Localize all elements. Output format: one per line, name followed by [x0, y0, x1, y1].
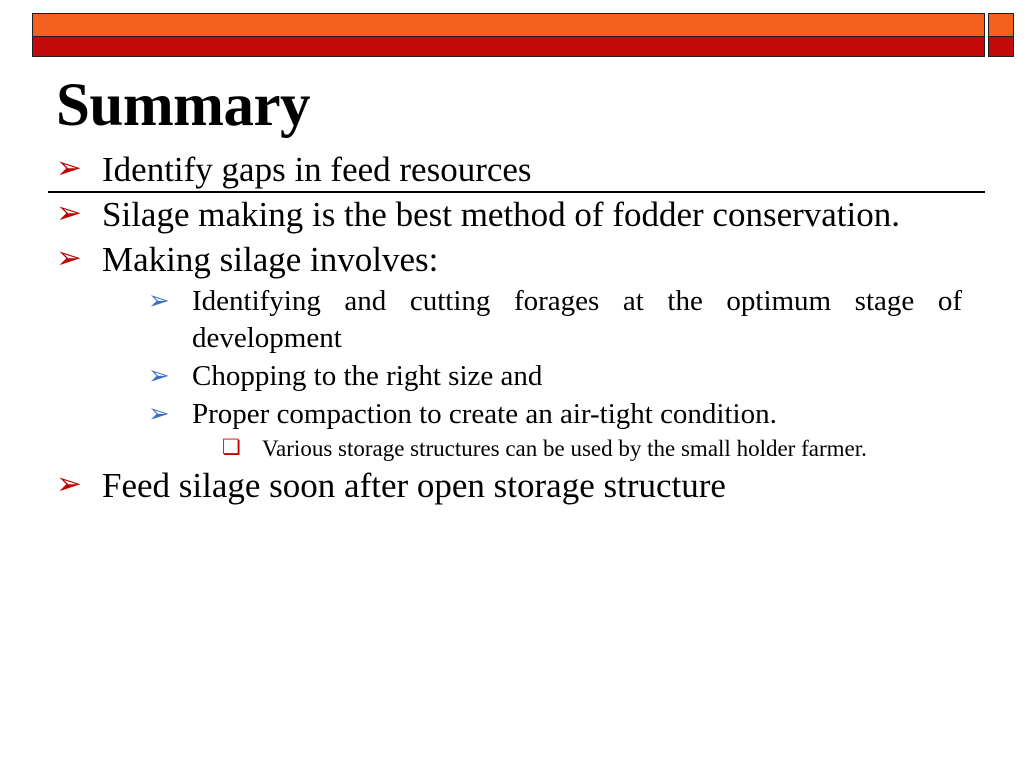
bullet-text: Identify gaps in feed resources — [102, 148, 984, 192]
arrow-bullet-icon: ➢ — [56, 153, 82, 184]
arrow-bullet-icon: ➢ — [56, 243, 82, 274]
bullet-item: ➢ Silage making is the best method of fo… — [0, 193, 1024, 237]
sub-bullet-item: ➢ Chopping to the right size and — [0, 358, 1024, 395]
bullet-item: ➢ Making silage involves: — [0, 238, 1024, 282]
header-bar-main — [32, 13, 985, 57]
bullet-text: Silage making is the best method of fodd… — [102, 193, 984, 237]
header-cap-stripe-red — [989, 37, 1013, 56]
arrow-bullet-icon: ➢ — [56, 198, 82, 229]
header-stripe-red — [33, 37, 984, 56]
square-bullet-icon: ❏ — [222, 437, 241, 458]
arrow-bullet-icon: ➢ — [148, 401, 170, 427]
bullet-item: ➢ Identify gaps in feed resources — [0, 148, 1024, 192]
header-stripe-orange — [33, 14, 984, 37]
arrow-bullet-icon: ➢ — [56, 469, 82, 500]
sub-bullet-text: Identifying and cutting forages at the o… — [192, 283, 962, 357]
divider-rule — [48, 191, 985, 193]
arrow-bullet-icon: ➢ — [148, 363, 170, 389]
bullet-text: Feed silage soon after open storage stru… — [102, 464, 984, 508]
sub-bullet-item: ➢ Identifying and cutting forages at the… — [0, 283, 1024, 357]
sub-bullet-item: ➢ Proper compaction to create an air-tig… — [0, 396, 1024, 433]
bullet-text: Making silage involves: — [102, 238, 984, 282]
sub-bullet-text: Chopping to the right size and — [192, 358, 962, 395]
header-decoration-band — [32, 13, 1014, 57]
bullet-item: ➢ Feed silage soon after open storage st… — [0, 464, 1024, 508]
sub-sub-bullet-item: ❏ Various storage structures can be used… — [0, 434, 1024, 463]
slide-body: ➢ Identify gaps in feed resources ➢ Sila… — [0, 148, 1024, 509]
arrow-bullet-icon: ➢ — [148, 288, 170, 314]
sub-sub-bullet-text: Various storage structures can be used b… — [262, 434, 962, 463]
header-cap-stripe-orange — [989, 14, 1013, 37]
slide-title: Summary — [56, 74, 310, 138]
header-bar-end-cap — [988, 13, 1014, 57]
sub-bullet-text: Proper compaction to create an air-tight… — [192, 396, 962, 433]
